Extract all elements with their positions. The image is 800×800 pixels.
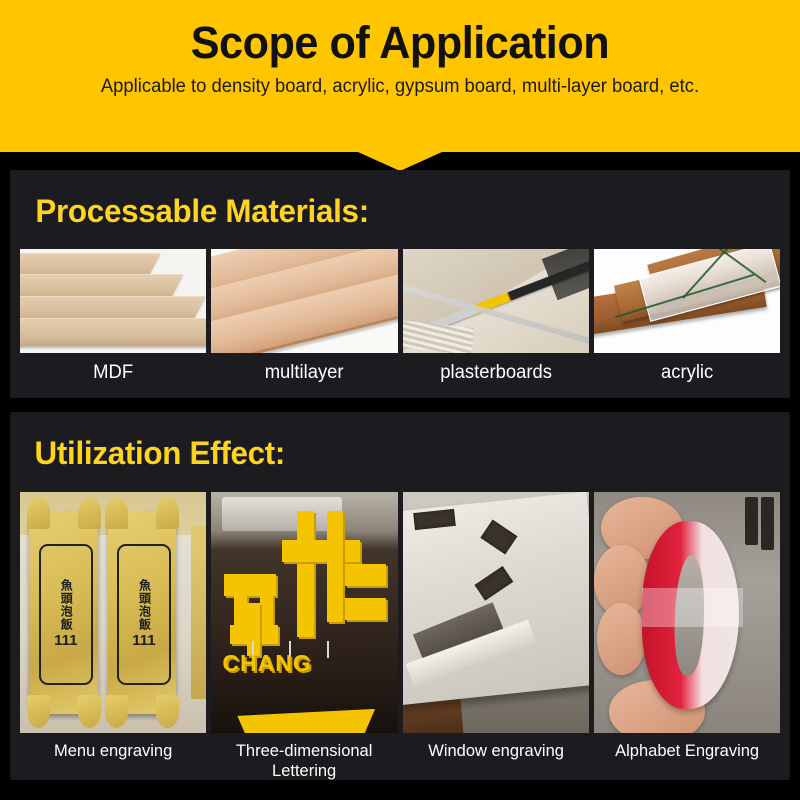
effect-label: Menu engraving — [23, 733, 204, 761]
page-title: Scope of Application — [191, 16, 609, 70]
plaque-chinese-text: 魚頭泡飯 — [59, 579, 72, 631]
material-card-acrylic[interactable]: acrylic — [594, 249, 780, 384]
material-label: multilayer — [214, 353, 395, 384]
channel-letters-photo: CHANG — [211, 492, 397, 733]
material-card-mdf[interactable]: MDF — [20, 249, 206, 384]
footer-bar — [0, 782, 800, 800]
plasterboard-photo — [403, 249, 589, 353]
menu-plaque-photo: 魚頭泡飯 111 魚頭泡飯 111 — [20, 492, 206, 733]
effect-card-three-dimensional-lettering[interactable]: CHANG Three-dimensional Lettering — [211, 492, 397, 781]
section-title-materials: Processable Materials: — [35, 192, 368, 230]
plaque-number-text: 111 — [132, 633, 155, 649]
effect-card-alphabet-engraving[interactable]: Alphabet Engraving — [594, 492, 780, 781]
processable-materials-panel: Processable Materials: MDF multilayer — [10, 170, 790, 398]
effect-label: Alphabet Engraving — [597, 733, 778, 761]
material-card-multilayer[interactable]: multilayer — [211, 249, 397, 384]
material-label: MDF — [23, 353, 204, 384]
effect-label: Window engraving — [405, 733, 586, 761]
effects-grid: 魚頭泡飯 111 魚頭泡飯 111 — [20, 492, 780, 781]
window-engraving-photo — [403, 492, 589, 733]
effect-card-menu-engraving[interactable]: 魚頭泡飯 111 魚頭泡飯 111 — [20, 492, 206, 781]
section-title-effects: Utilization Effect: — [35, 434, 286, 472]
plaque-number-text: 111 — [54, 633, 77, 649]
header-banner: Scope of Application Applicable to densi… — [0, 0, 800, 152]
scope-of-application-infographic: Scope of Application Applicable to densi… — [0, 0, 800, 800]
header-arrow-icon — [358, 152, 442, 171]
material-card-plasterboards[interactable]: plasterboards — [403, 249, 589, 384]
multilayer-plywood-photo — [211, 249, 397, 353]
plaque-chinese-text: 魚頭泡飯 — [137, 579, 150, 631]
effect-label: Three-dimensional Lettering — [214, 733, 395, 781]
utilization-effect-panel: Utilization Effect: 魚頭泡飯 111 — [10, 412, 790, 780]
mdf-board-photo — [20, 249, 206, 353]
channel-letters-text: CHANG — [222, 651, 311, 675]
acrylic-sheet-photo — [594, 249, 780, 353]
acrylic-letter-photo — [594, 492, 780, 733]
effect-card-window-engraving[interactable]: Window engraving — [403, 492, 589, 781]
page-subtitle: Applicable to density board, acrylic, gy… — [99, 74, 700, 99]
materials-grid: MDF multilayer plasterboards — [20, 249, 780, 384]
material-label: acrylic — [597, 353, 778, 384]
material-label: plasterboards — [405, 353, 586, 384]
